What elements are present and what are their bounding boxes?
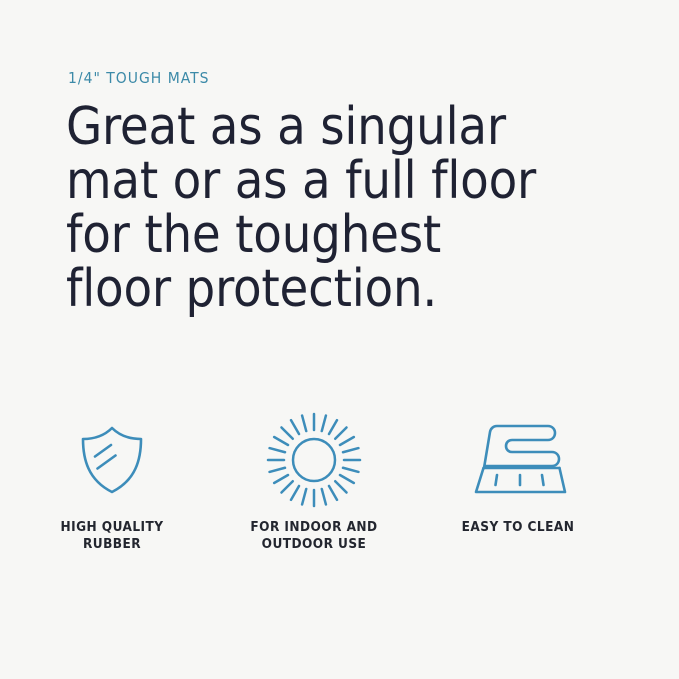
feature-caption-high-quality-rubber: HIGH QUALITY RUBBER [17,519,207,553]
eyebrow-label: 1/4" TOUGH MATS [68,69,209,87]
caption-line-1: HIGH QUALITY [17,519,207,536]
feature-item-easy-to-clean: EASY TO CLEAN [423,415,613,536]
feature-item-high-quality-rubber: HIGH QUALITY RUBBER [17,415,207,553]
caption-line-2: OUTDOOR USE [219,536,409,553]
feature-list: HIGH QUALITY RUBBER [0,415,679,575]
headline-line-2: mat or as a full floor [66,154,586,208]
feature-caption-easy-to-clean: EASY TO CLEAN [423,519,613,536]
headline-line-4: floor protection. [66,262,586,316]
caption-line-2: RUBBER [17,536,207,553]
page-title: Great as a singular mat or as a full flo… [66,100,586,316]
headline-line-3: for the toughest [66,208,586,262]
shield-icon [17,415,207,505]
caption-line-1: FOR INDOOR AND [219,519,409,536]
feature-caption-indoor-outdoor: FOR INDOOR AND OUTDOOR USE [219,519,409,553]
headline-line-1: Great as a singular [66,100,586,154]
caption-line-1: EASY TO CLEAN [423,519,613,536]
brush-icon [423,415,613,505]
feature-item-indoor-outdoor: FOR INDOOR AND OUTDOOR USE [219,415,409,553]
promo-banner: 1/4" TOUGH MATS Great as a singular mat … [0,0,679,679]
sun-icon [219,415,409,505]
